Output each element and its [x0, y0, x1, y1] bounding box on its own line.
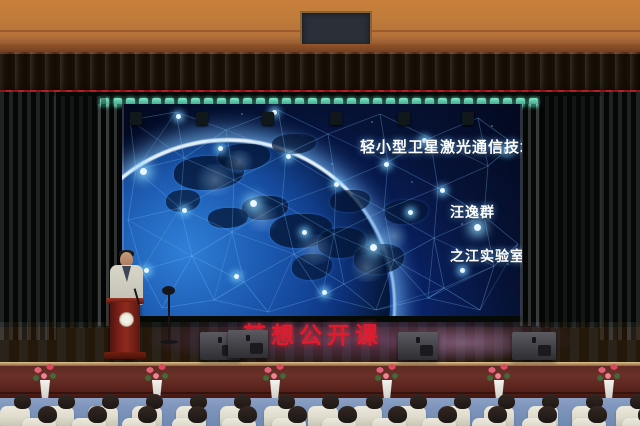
left-red-curtain-leg	[0, 92, 56, 340]
stage-apron-line	[0, 392, 640, 394]
audience-head	[410, 394, 427, 409]
network-node	[234, 274, 239, 279]
network-node	[460, 268, 465, 273]
floor-monitor-speaker	[398, 332, 438, 360]
audience-head	[388, 406, 407, 423]
network-node	[140, 168, 147, 175]
network-node	[334, 182, 339, 187]
lectern-emblem	[119, 312, 134, 327]
audience-head	[322, 394, 339, 409]
audience-head	[454, 394, 471, 409]
audience-head	[238, 406, 257, 423]
right-tan-curtain	[520, 104, 542, 326]
network-node	[302, 230, 307, 235]
slide-speaker-name: 汪逸群	[450, 202, 495, 222]
audience-head	[102, 394, 119, 409]
audience-head	[88, 406, 107, 423]
network-node	[322, 290, 327, 295]
audience-head	[58, 394, 75, 409]
network-node	[286, 154, 291, 159]
audience-head	[188, 406, 207, 423]
audience-head	[588, 406, 607, 423]
monitor-handle	[416, 337, 420, 343]
network-node	[250, 200, 257, 207]
network-node	[182, 208, 187, 213]
network-node	[384, 162, 389, 167]
audience-seat	[622, 418, 640, 426]
stage-lamp	[196, 112, 208, 125]
auditorium-stage-photo: 轻小型卫星激光通信技术 汪逸群 之江实验室 梦想公开课	[0, 0, 640, 426]
led-display-screen: 轻小型卫星激光通信技术 汪逸群 之江实验室	[122, 104, 522, 316]
right-red-curtain-leg	[600, 92, 640, 340]
audience-head	[338, 406, 357, 423]
slide-organization: 之江实验室	[450, 246, 522, 266]
audience-head	[288, 406, 307, 423]
audience-head	[488, 406, 507, 423]
stage-lamp	[262, 112, 274, 125]
floor-monitor-speaker	[228, 330, 268, 358]
network-node	[408, 210, 413, 215]
floor-monitor-speaker	[512, 332, 556, 360]
network-node	[176, 114, 181, 119]
network-node	[370, 244, 377, 251]
network-node	[218, 146, 223, 151]
stage-lamp	[462, 112, 474, 125]
lectern-base	[104, 352, 146, 359]
slide-title: 轻小型卫星激光通信技术	[360, 136, 522, 157]
audience-head	[14, 394, 31, 409]
monitor-handle	[532, 337, 536, 343]
audience-head	[630, 394, 640, 409]
audience-head	[138, 406, 157, 423]
audience-head	[438, 406, 457, 423]
audience-head	[538, 406, 557, 423]
audience-head	[366, 394, 383, 409]
monitor-stand-base	[160, 340, 178, 344]
monitor-stand-pole	[168, 290, 170, 342]
stage-lamp	[130, 112, 142, 125]
monitor-handle	[246, 335, 250, 341]
stage-lamp	[398, 112, 410, 125]
monitor-handle	[218, 337, 222, 343]
network-node	[144, 268, 149, 273]
network-node	[474, 224, 481, 231]
audience-head	[38, 406, 57, 423]
right-green-curtain	[536, 96, 602, 328]
network-node	[440, 188, 445, 193]
stage-lamp	[330, 112, 342, 125]
lectern	[110, 302, 140, 358]
ceiling-vent	[300, 11, 372, 48]
